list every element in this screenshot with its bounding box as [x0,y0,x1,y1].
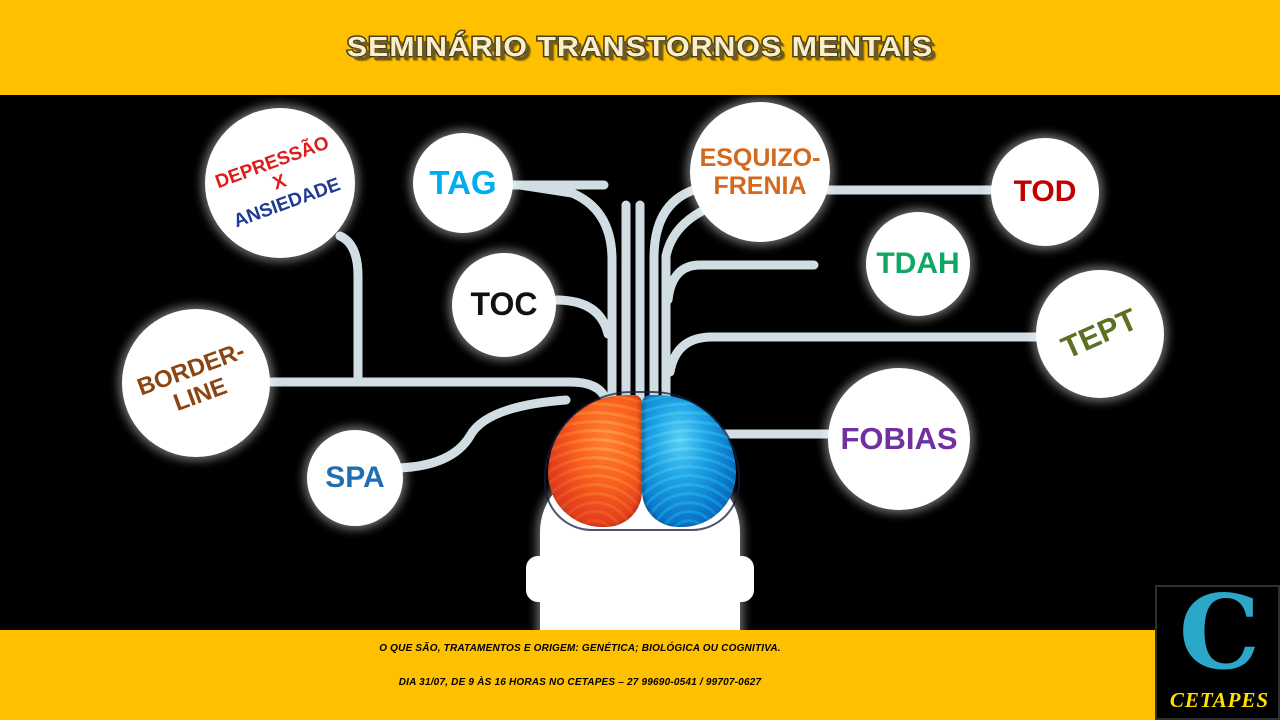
cetapes-logo: C CETAPES [1155,585,1280,720]
wire-spa [398,400,566,468]
node-label-border-line: BORDER-LINE [129,337,264,430]
bottom-banner: O QUE SÃO, TRATAMENTOS E ORIGEM: GENÉTIC… [0,630,1280,720]
brain-graphic [548,395,736,527]
wire-trunk-d [654,188,700,400]
poster-canvas: DEPRESSÃOXANSIEDADETAGESQUIZO-FRENIATODT… [0,0,1280,720]
node-label-line: TAG [429,165,496,202]
wire-tept [670,337,1040,372]
node-tag[interactable]: TAG [413,133,513,233]
node-label-spa: SPA [319,461,390,495]
node-label-line: ESQUIZO- [700,144,821,172]
wire-depressao [340,236,358,380]
node-label-tdah: TDAH [870,247,965,281]
node-label-line: TOD [1014,175,1077,209]
brain-left-hemisphere [548,395,642,527]
node-border-line[interactable]: BORDER-LINE [122,309,270,457]
node-fobias[interactable]: FOBIAS [828,368,970,510]
node-label-tod: TOD [1008,175,1083,209]
node-label-line: FRENIA [700,172,821,200]
node-label-fobias: FOBIAS [834,422,963,457]
node-toc[interactable]: TOC [452,253,556,357]
node-tept[interactable]: TEPT [1036,270,1164,398]
brain-right-hemisphere [642,395,736,527]
node-esquizofrenia[interactable]: ESQUIZO-FRENIA [690,102,830,242]
node-depressao-x-ansiedade[interactable]: DEPRESSÃOXANSIEDADE [205,108,355,258]
node-tdah[interactable]: TDAH [866,212,970,316]
page-title: SEMINÁRIO TRANSTORNOS MENTAIS [0,6,1280,88]
node-label-esquizofrenia: ESQUIZO-FRENIA [694,144,827,200]
node-label-toc: TOC [465,287,544,323]
node-label-line: SPA [325,461,384,495]
node-label-depressao-x-ansiedade: DEPRESSÃOXANSIEDADE [207,131,352,236]
cetapes-wordmark: CETAPES [1157,688,1280,713]
footer-line-2: DIA 31/07, DE 9 ÀS 16 HORAS NO CETAPES –… [0,677,1160,688]
cetapes-monogram-icon: C [1157,585,1280,693]
node-label-line: TEPT [1057,302,1144,366]
node-label-line: TDAH [876,247,959,281]
node-label-tag: TAG [423,165,502,202]
node-tod[interactable]: TOD [991,138,1099,246]
node-label-line: TOC [471,287,538,323]
node-label-tept: TEPT [1051,300,1148,369]
node-spa[interactable]: SPA [307,430,403,526]
footer-line-1: O QUE SÃO, TRATAMENTOS E ORIGEM: GENÉTIC… [0,643,1160,654]
top-banner: SEMINÁRIO TRANSTORNOS MENTAIS [0,0,1280,95]
wire-tdah [668,265,814,300]
node-label-line: FOBIAS [840,422,957,457]
wire-toc [556,300,608,334]
